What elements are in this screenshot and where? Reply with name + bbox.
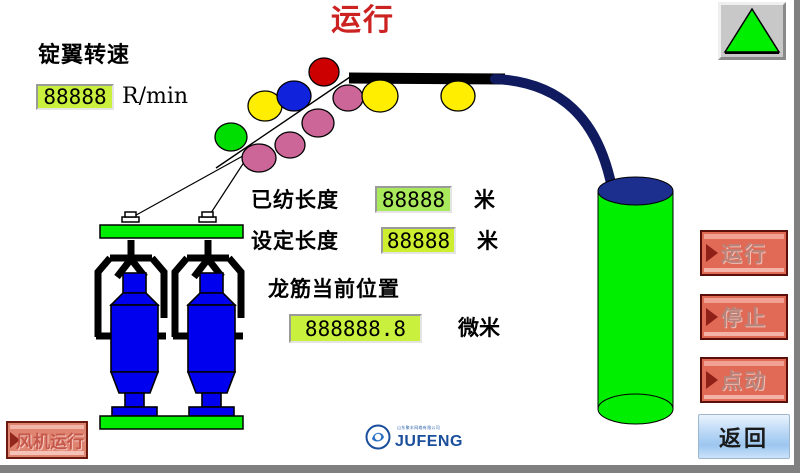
spindle-cap-right bbox=[199, 212, 216, 222]
spun-length-value[interactable]: 88888 bbox=[375, 186, 452, 213]
bobbin-right bbox=[188, 273, 235, 416]
spun-length-label: 已纺长度 bbox=[251, 188, 339, 212]
stop-button[interactable]: 停止 bbox=[700, 294, 788, 340]
bobbin-left bbox=[111, 273, 158, 416]
company-logo: 山东聚丰网络有限公司 JUFENG bbox=[365, 424, 457, 454]
spindle-cap-left bbox=[122, 212, 139, 222]
spindle-speed-label: 锭翼转速 bbox=[38, 44, 130, 68]
fiber-ball bbox=[333, 85, 363, 111]
rib-position-value[interactable]: 888888.8 bbox=[289, 314, 422, 343]
fiber-ball bbox=[275, 132, 305, 158]
stop-button-label: 停止 bbox=[702, 302, 786, 332]
triangle-up-icon bbox=[721, 5, 783, 57]
button-highlight-bottom bbox=[704, 395, 784, 399]
set-length-unit: 米 bbox=[477, 229, 498, 253]
logo-text: JUFENG bbox=[395, 433, 463, 451]
delivery-bar bbox=[349, 78, 505, 79]
fan-run-button-label: 风机运行 bbox=[16, 428, 86, 453]
flyer-right bbox=[173, 240, 243, 337]
logo-subtext: 山东聚丰网络有限公司 bbox=[397, 425, 440, 431]
return-button[interactable]: 返回 bbox=[698, 414, 790, 459]
set-length-label: 设定长度 bbox=[251, 229, 339, 253]
can-top bbox=[598, 177, 673, 205]
triangle-indicator[interactable] bbox=[718, 2, 786, 60]
fan-run-button[interactable]: 风机运行 bbox=[6, 421, 88, 459]
button-highlight-bottom bbox=[704, 332, 784, 336]
spun-length-unit: 米 bbox=[474, 188, 495, 212]
fiber-balls bbox=[215, 58, 475, 172]
top-plate bbox=[100, 225, 243, 238]
fiber-ball bbox=[215, 123, 247, 151]
set-length-value[interactable]: 88888 bbox=[381, 227, 456, 254]
guide-wires bbox=[129, 150, 252, 219]
hmi-screen: 运行 锭翼转速 88888 R/min 已纺长度 88888 米 设定长度 88… bbox=[0, 0, 800, 473]
jog-button-label: 点动 bbox=[702, 365, 786, 395]
fiber-ball bbox=[362, 80, 398, 112]
sliver-path bbox=[495, 79, 612, 188]
run-button[interactable]: 运行 bbox=[700, 230, 788, 276]
rib-position-unit: 微米 bbox=[458, 316, 500, 340]
run-button-label: 运行 bbox=[702, 238, 786, 268]
button-highlight-bottom bbox=[10, 451, 84, 455]
sliver-can bbox=[598, 177, 673, 424]
roving-guide-line bbox=[216, 77, 350, 168]
jog-button[interactable]: 点动 bbox=[700, 357, 788, 403]
spindle-speed-unit: R/min bbox=[122, 85, 188, 109]
fiber-ball bbox=[309, 58, 339, 86]
jufeng-mark-icon bbox=[365, 424, 391, 450]
fiber-ball bbox=[302, 109, 334, 137]
base-plate bbox=[100, 416, 243, 429]
fiber-ball bbox=[242, 144, 276, 172]
spindle-speed-value[interactable]: 88888 bbox=[36, 84, 114, 110]
rib-position-label: 龙筋当前位置 bbox=[268, 277, 400, 301]
flyer-left bbox=[96, 240, 166, 337]
fiber-ball bbox=[441, 81, 475, 111]
spindle-assembly bbox=[96, 212, 243, 429]
button-highlight-bottom bbox=[704, 268, 784, 272]
page-title: 运行 bbox=[331, 2, 395, 40]
fiber-ball bbox=[248, 91, 282, 121]
fiber-ball bbox=[277, 81, 311, 111]
